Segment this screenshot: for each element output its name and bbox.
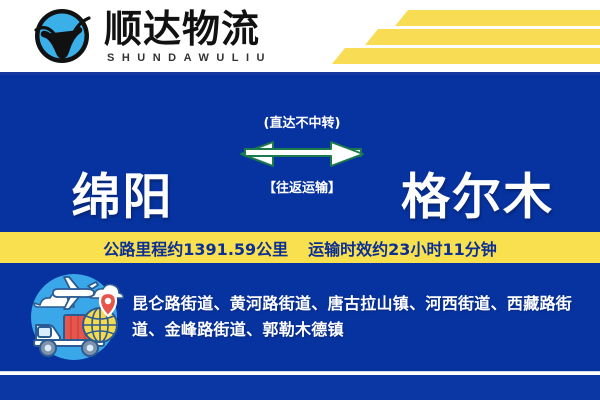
banner-header: 顺达物流 SHUNDAWULIU	[0, 0, 600, 72]
stripe-3	[332, 48, 600, 64]
stripe-2	[365, 29, 600, 45]
circle-swoosh-logo-icon	[30, 4, 94, 68]
double-headed-arrow-icon	[239, 137, 365, 171]
brand-name-cn: 顺达物流	[104, 8, 272, 50]
logistics-truck-globe-icon	[22, 269, 126, 365]
route-info-bar: 公路里程约1391.59公里 运输时效约23小时11分钟	[0, 232, 600, 263]
stripe-1	[395, 10, 600, 26]
direct-route-note: (直达不中转)	[264, 112, 341, 131]
delivery-areas-section: 昆仑路街道、黄河路街道、唐古拉山镇、河西街道、西藏路街道、金峰路街道、郭勒木德镇	[0, 263, 600, 371]
destination-city: 格尔木	[355, 158, 600, 229]
brand-name-en: SHUNDAWULIU	[104, 51, 272, 65]
delivery-areas-text: 昆仑路街道、黄河路街道、唐古拉山镇、河西街道、西藏路街道、金峰路街道、郭勒木德镇	[132, 291, 574, 343]
round-trip-note: 【往返运输】	[263, 177, 341, 196]
route-section: 绵阳 (直达不中转) 【往返运输】 格尔木	[0, 75, 600, 232]
duration-label: 运输时效约23小时11分钟	[308, 236, 497, 260]
distance-label: 公路里程约1391.59公里	[103, 236, 288, 260]
brand-logo: 顺达物流 SHUNDAWULIU	[30, 4, 272, 68]
origin-city: 绵阳	[0, 158, 245, 229]
header-stripes	[330, 0, 600, 72]
logistics-route-banner: 顺达物流 SHUNDAWULIU 绵阳 (直达不中转)	[0, 0, 600, 400]
route-middle: (直达不中转) 【往返运输】	[238, 75, 366, 232]
footer-band	[0, 375, 600, 400]
